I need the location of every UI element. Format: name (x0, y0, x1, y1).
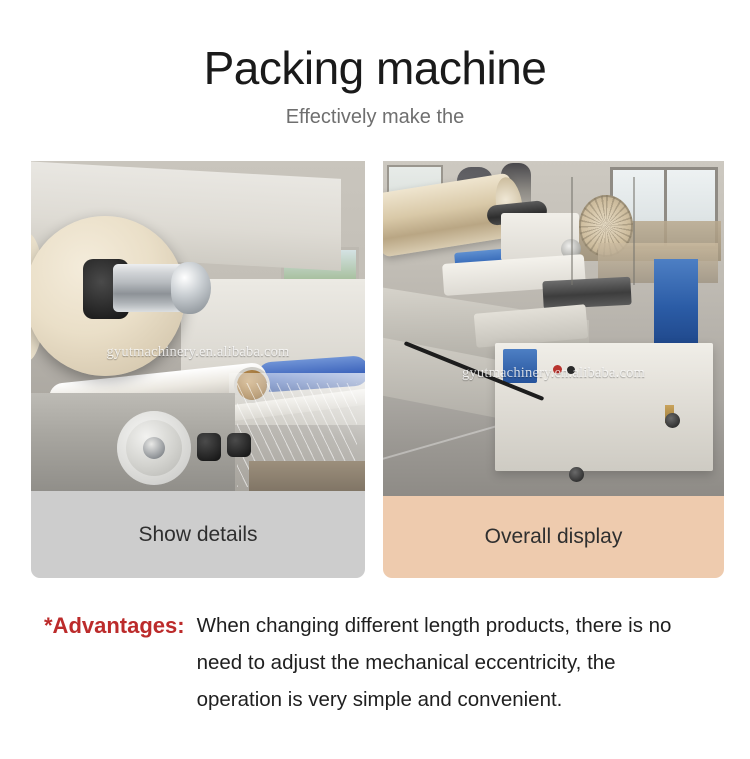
header: Packing machine Effectively make the (0, 44, 750, 128)
caption-label: Show details (138, 523, 257, 547)
page-title: Packing machine (0, 44, 750, 92)
image-cards: gyutmachinery.en.alibaba.com Show detail… (0, 161, 750, 579)
caption-overall-display[interactable]: Overall display (383, 496, 724, 578)
card-show-details[interactable]: gyutmachinery.en.alibaba.com Show detail… (31, 161, 365, 578)
advantages-text: When changing different length products,… (197, 607, 702, 718)
product-banner: Packing machine Effectively make the (0, 0, 750, 759)
machine-closeup-illustration (31, 161, 365, 491)
photo-show-details[interactable]: gyutmachinery.en.alibaba.com (31, 161, 365, 491)
card-overall-display[interactable]: gyutmachinery.en.alibaba.com Overall dis… (383, 161, 724, 578)
page-subtitle: Effectively make the (0, 106, 750, 128)
machine-overview-illustration (383, 161, 724, 496)
advantages-block: *Advantages: When changing different len… (44, 607, 714, 718)
caption-label: Overall display (485, 525, 623, 549)
advantages-label: *Advantages: (44, 607, 197, 644)
caption-show-details[interactable]: Show details (31, 491, 365, 578)
photo-overall-display[interactable]: gyutmachinery.en.alibaba.com (383, 161, 724, 496)
